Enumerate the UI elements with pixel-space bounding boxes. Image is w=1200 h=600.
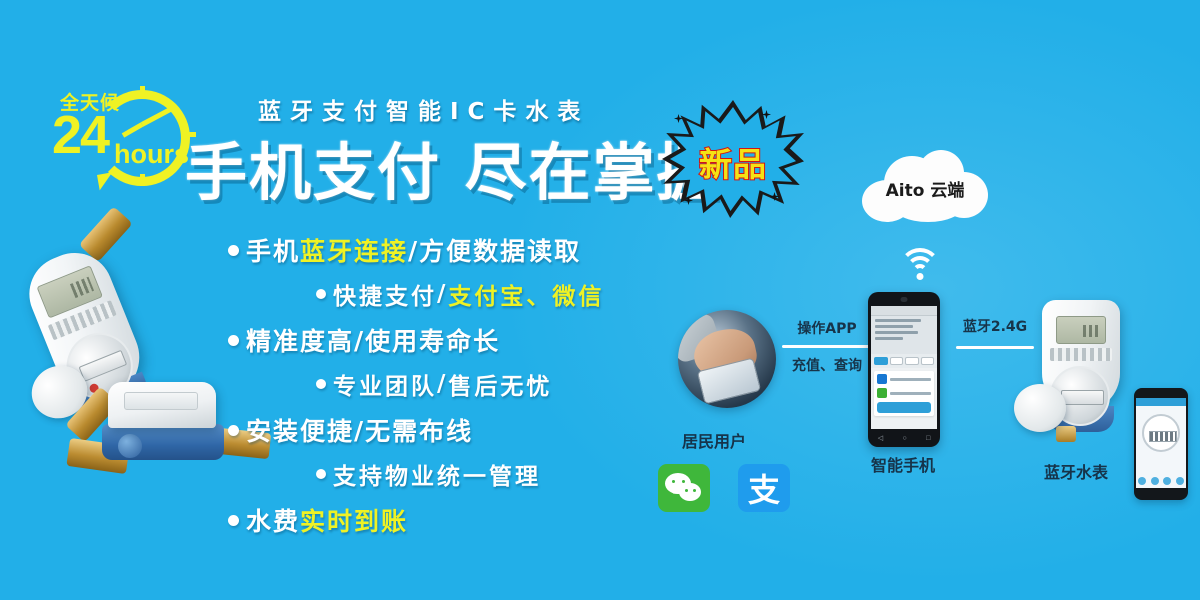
payment-option-alipay[interactable] (877, 374, 931, 384)
new-product-burst-badge: 新品 (662, 100, 804, 218)
new-product-label: 新品 (662, 138, 804, 186)
info-line (875, 337, 903, 340)
meter-app-button[interactable] (1163, 477, 1171, 485)
meter-app-button[interactable] (1176, 477, 1184, 485)
feature-list: 手机 蓝牙连接 / 方便数据读取 快捷支付 / 支付宝、微信 精准度高 / 使用… (228, 232, 698, 538)
meter-app-screen[interactable] (1136, 398, 1186, 488)
app-chip[interactable] (921, 357, 935, 365)
meter-white-cap (108, 382, 216, 428)
feature-5-text-b: 无需布线 (365, 412, 473, 448)
meter-app-button[interactable] (1138, 477, 1146, 485)
clock-tick-top (140, 86, 145, 98)
feature-3-text-a: 精准度高 (246, 322, 354, 358)
bullet-dot-icon (228, 425, 239, 436)
badge-number: 24 (52, 108, 108, 162)
wechat-eye (682, 480, 685, 483)
resident-user-photo (678, 310, 776, 408)
promo-banner: 全天候 24 hours 蓝牙支付智能IC卡水表 手机支付 尽在掌握 新品 (0, 0, 1200, 600)
feature-2-text-a: 快捷支付 (333, 277, 437, 311)
app-topbar (871, 306, 937, 316)
feature-item-5: 安装便捷 / 无需布线 (228, 412, 698, 448)
wechat-eye (693, 489, 696, 492)
caption-smartphone: 智能手机 (871, 452, 935, 476)
feature-item-6: 支持物业统一管理 (316, 457, 698, 491)
all-weather-24h-badge: 全天候 24 hours (52, 86, 192, 194)
caption-resident-user: 居民用户 (682, 428, 746, 452)
feature-4-separator: / (437, 371, 448, 397)
payment-icon-group: 支 (658, 464, 790, 512)
wechat-pay-icon (877, 388, 887, 398)
feature-1-text-b: 方便数据读取 (419, 232, 581, 268)
connector-app-top-label: 操作APP (782, 318, 872, 338)
feature-5-text-a: 安装便捷 (246, 412, 354, 448)
feature-7-highlight: 实时到账 (300, 502, 408, 538)
phone-screen[interactable] (871, 306, 937, 429)
wechat-eye (685, 489, 688, 492)
banner-subtitle: 蓝牙支付智能IC卡水表 (258, 92, 589, 126)
feature-6-text-a: 支持物业统一管理 (333, 457, 541, 491)
meter-lcd-display (1056, 316, 1106, 344)
connector-app-bottom-label: 充值、查询 (782, 355, 872, 375)
bullet-dot-icon (228, 335, 239, 346)
feature-1-highlight: 蓝牙连接 (300, 232, 408, 268)
feature-5-separator: / (354, 416, 365, 445)
banner-headline: 手机支付 尽在掌握 (185, 122, 721, 212)
phone-earpiece (901, 297, 908, 302)
feature-3-text-b: 使用寿命长 (365, 322, 500, 358)
feature-4-text-b: 售后无忧 (448, 367, 552, 401)
feature-1-separator: / (408, 236, 419, 265)
cloud-label: Aito 云端 (862, 176, 988, 201)
alipay-icon[interactable]: 支 (738, 464, 790, 512)
feature-item-4: 专业团队 / 售后无忧 (316, 367, 698, 401)
smartphone-mockup: ◁ ○ □ (868, 292, 940, 447)
payment-method-card (874, 371, 934, 416)
info-line (875, 331, 918, 334)
feature-2-highlight: 支付宝、微信 (448, 277, 604, 311)
bullet-dot-icon (316, 469, 326, 479)
wifi-dot (917, 273, 924, 280)
back-icon[interactable]: ◁ (878, 434, 883, 442)
valve-knob (118, 434, 142, 458)
meter-reading-dial (1142, 414, 1180, 452)
feature-7-text-a: 水费 (246, 502, 300, 538)
feature-item-1: 手机 蓝牙连接 / 方便数据读取 (228, 232, 698, 268)
meter-keypad (1050, 348, 1112, 361)
alipay-glyph: 支 (738, 464, 790, 512)
alipay-icon (877, 374, 887, 384)
bullet-dot-icon (316, 379, 326, 389)
feature-item-3: 精准度高 / 使用寿命长 (228, 322, 698, 358)
bullet-dot-icon (228, 515, 239, 526)
caption-bluetooth-water-meter: 蓝牙水表 (1044, 459, 1108, 483)
payment-option-label (890, 378, 931, 381)
cloud-shape: Aito 云端 (862, 150, 988, 224)
app-chip[interactable] (890, 357, 904, 365)
meter-outlet-spout (1056, 426, 1076, 442)
meter-app-button-row (1136, 477, 1186, 485)
info-line (875, 319, 921, 322)
payment-option-label (890, 392, 931, 395)
sparkle-icon (674, 114, 683, 123)
info-line (875, 325, 913, 328)
bullet-dot-icon (316, 289, 326, 299)
connector-line (782, 345, 872, 348)
app-info-panel (871, 316, 937, 354)
clock-tick-bottom (140, 174, 145, 186)
meter-app-phone-mockup (1134, 388, 1188, 500)
meter-app-button[interactable] (1151, 477, 1159, 485)
badge-unit: hours (114, 141, 189, 168)
app-chip-row (871, 354, 937, 368)
meter-cover-lid (1014, 384, 1066, 432)
feature-4-text-a: 专业团队 (333, 367, 437, 401)
feature-item-7: 水费 实时到账 (228, 502, 698, 538)
phone-navbar: ◁ ○ □ (868, 429, 940, 447)
wechat-pay-icon[interactable] (658, 464, 710, 512)
meter-app-topbar (1136, 398, 1186, 406)
confirm-pay-button[interactable] (877, 402, 931, 413)
payment-option-wechat[interactable] (877, 388, 931, 398)
wifi-icon (898, 248, 942, 280)
app-chip[interactable] (874, 357, 888, 365)
feature-2-separator: / (437, 281, 448, 307)
feature-item-2: 快捷支付 / 支付宝、微信 (316, 277, 698, 311)
connector-operate-app: 操作APP 充值、查询 (782, 318, 872, 375)
app-chip[interactable] (905, 357, 919, 365)
wechat-bubble-small (679, 483, 701, 501)
bullet-dot-icon (228, 245, 239, 256)
feature-3-separator: / (354, 326, 365, 355)
home-icon[interactable]: ○ (902, 435, 906, 442)
recents-icon[interactable]: □ (926, 435, 930, 442)
feature-1-text-a: 手机 (246, 232, 300, 268)
wechat-eye (672, 480, 675, 483)
bluetooth-water-meter (1020, 300, 1150, 450)
